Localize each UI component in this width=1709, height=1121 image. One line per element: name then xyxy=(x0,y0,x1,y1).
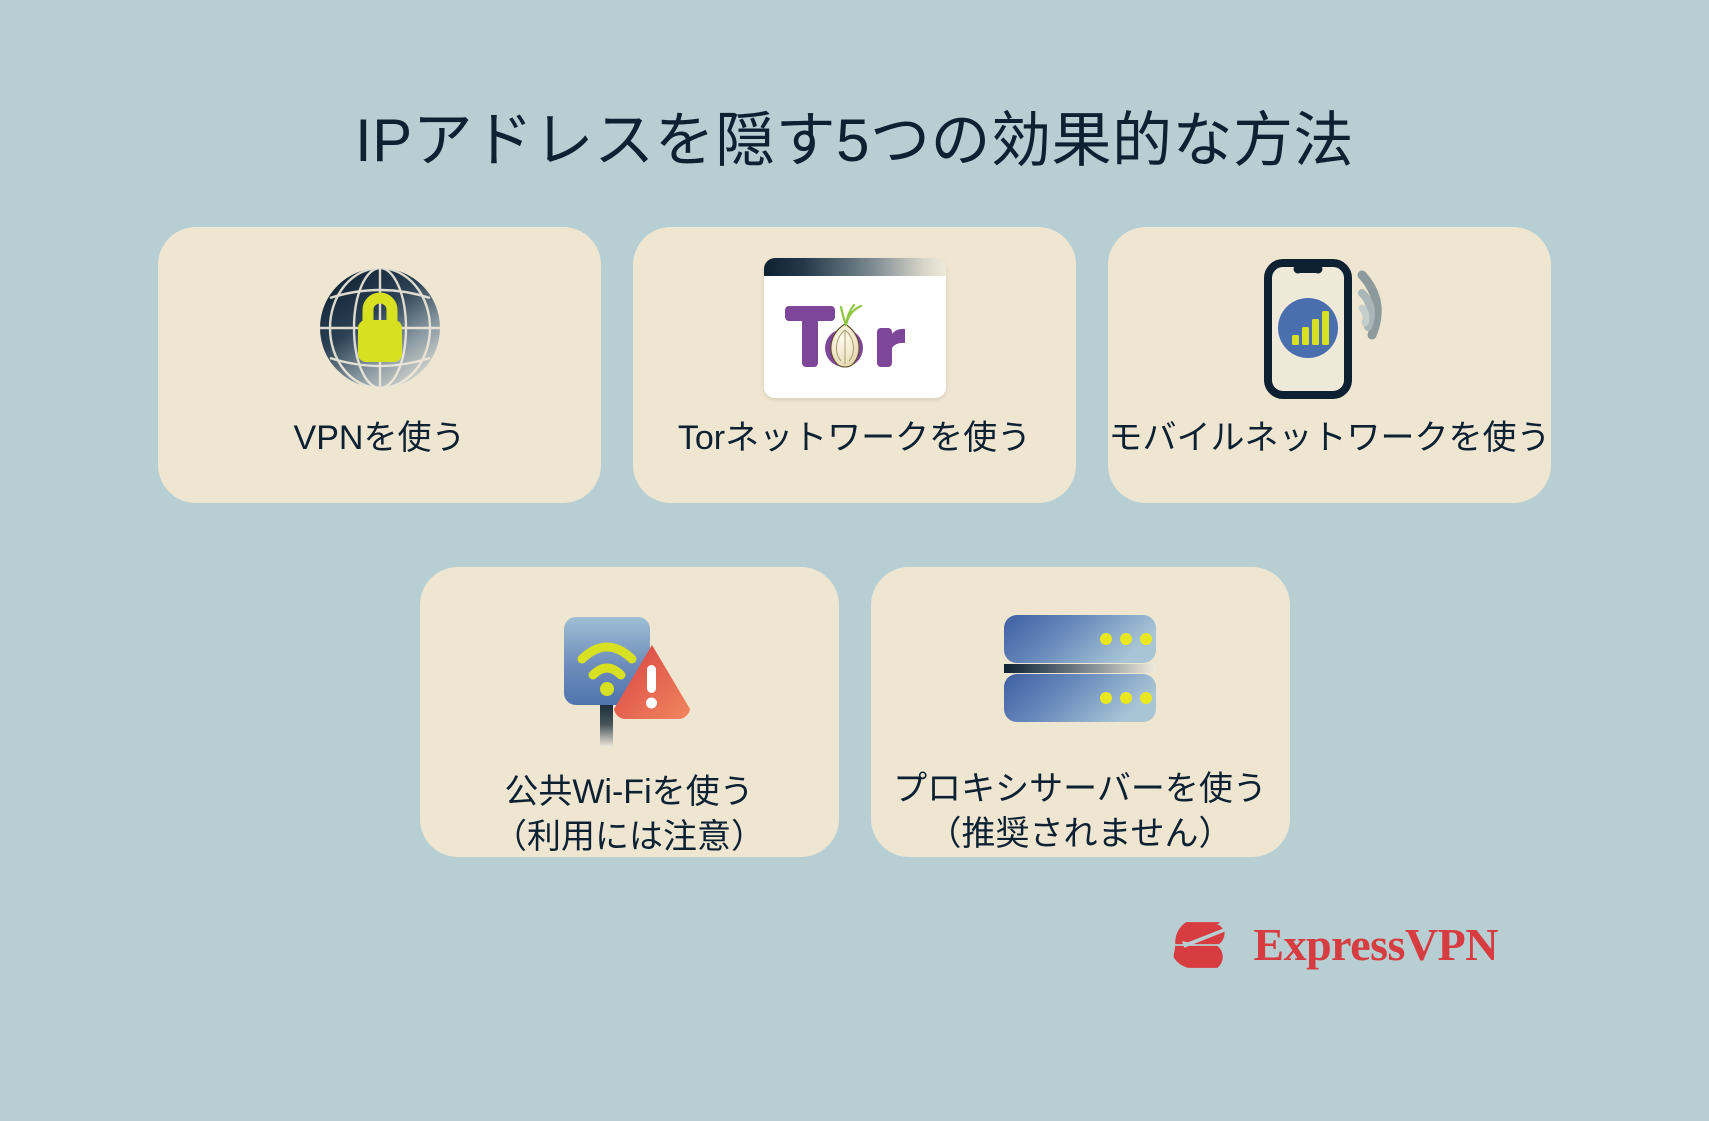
method-card-title: 公共Wi-Fiを使う xyxy=(504,773,753,811)
method-card-label: モバイルネットワークを使う xyxy=(1109,416,1551,461)
methods-row-top: VPNを使う xyxy=(0,227,1709,503)
method-card-vpn: VPNを使う xyxy=(158,227,601,503)
public-wifi-warning-icon xyxy=(542,593,717,753)
method-card-title: モバイルネットワークを使う xyxy=(1109,419,1551,457)
method-card-proxy-server: プロキシサーバーを使う （推奨されません） xyxy=(871,567,1290,857)
tor-browser-icon xyxy=(764,258,946,398)
method-icon-slot xyxy=(542,595,717,750)
method-card-public-wifi: 公共Wi-Fiを使う （利用には注意） xyxy=(420,567,839,857)
browser-viewport xyxy=(764,276,946,398)
method-card-label: プロキシサーバーを使う （推奨されません） xyxy=(893,767,1267,857)
method-card-title: プロキシサーバーを使う xyxy=(893,770,1267,808)
page-title: IPアドレスを隠す5つの効果的な方法 xyxy=(0,108,1709,174)
tor-logo-icon xyxy=(779,298,931,376)
method-card-subtitle: （推奨されません） xyxy=(893,812,1267,857)
mobile-signal-icon xyxy=(1250,253,1410,403)
method-card-mobile-network: モバイルネットワークを使う xyxy=(1108,227,1551,503)
signal-waves xyxy=(1362,275,1377,335)
expressvpn-wordmark: ExpressVPN xyxy=(1253,922,1498,968)
browser-titlebar xyxy=(764,258,946,276)
expressvpn-e-mark-icon xyxy=(1168,914,1237,976)
expressvpn-logo: ExpressVPN xyxy=(1168,900,1498,990)
globe-lock-icon xyxy=(314,262,446,394)
method-icon-slot xyxy=(1250,255,1410,400)
methods-row-bottom: 公共Wi-Fiを使う （利用には注意） xyxy=(0,567,1709,857)
method-card-subtitle: （利用には注意） xyxy=(493,815,765,860)
method-icon-slot xyxy=(1000,595,1160,747)
method-card-label: 公共Wi-Fiを使う （利用には注意） xyxy=(493,770,765,860)
method-icon-slot xyxy=(764,255,946,400)
method-card-label: VPNを使う xyxy=(294,416,466,461)
method-card-title: VPNを使う xyxy=(294,419,466,457)
method-card-title: Torネットワークを使う xyxy=(678,419,1031,457)
method-icon-slot xyxy=(314,255,446,400)
method-card-label: Torネットワークを使う xyxy=(678,416,1031,461)
proxy-server-icon xyxy=(1000,611,1160,731)
method-card-tor: Torネットワークを使う xyxy=(633,227,1076,503)
